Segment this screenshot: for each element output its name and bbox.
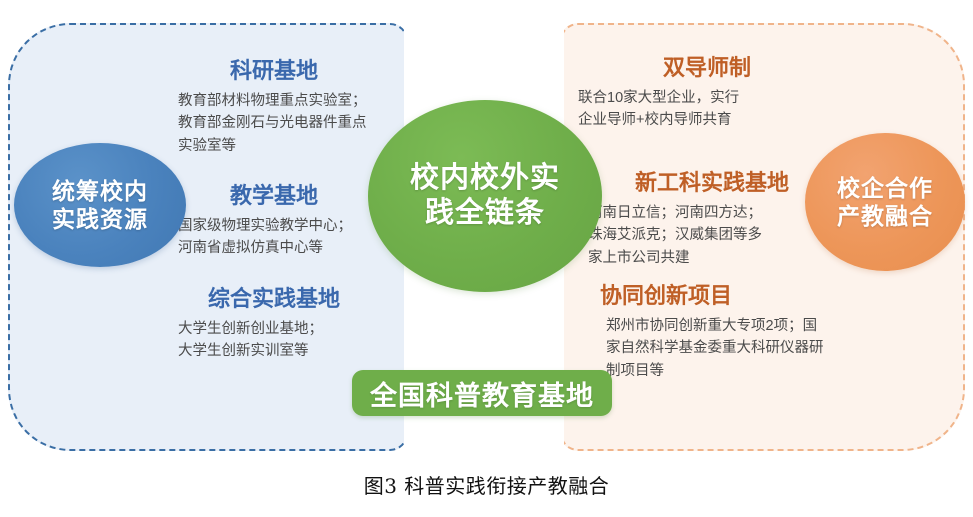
heading-collaborative-innovation-projects: 协同创新项目 bbox=[578, 283, 868, 309]
body-comprehensive-practice-base: 大学生创新创业基地； 大学生创新实训室等 bbox=[150, 318, 398, 363]
block-research-base: 科研基地 教育部材料物理重点实验室； 教育部金刚石与光电器件重点 实验室等 bbox=[150, 58, 398, 157]
body-research-base: 教育部材料物理重点实验室； 教育部金刚石与光电器件重点 实验室等 bbox=[150, 90, 398, 157]
body-dual-mentor-system: 联合10家大型企业，实行 企业导师+校内导师共育 bbox=[578, 87, 836, 132]
hub-full-chain-label: 校内校外实 践全链条 bbox=[410, 161, 560, 232]
block-new-engineering-practice-base: 新工科实践基地 河南日立信；河南四方达； 珠海艾派克；汉威集团等多 家上市公司共… bbox=[578, 170, 846, 269]
hub-internal-resources: 统筹校内 实践资源 bbox=[14, 143, 186, 267]
heading-comprehensive-practice-base: 综合实践基地 bbox=[150, 286, 398, 312]
heading-research-base: 科研基地 bbox=[150, 58, 398, 84]
heading-teaching-base: 教学基地 bbox=[150, 183, 398, 209]
figure-canvas: 科研基地 教育部材料物理重点实验室； 教育部金刚石与光电器件重点 实验室等 教学… bbox=[0, 0, 973, 517]
heading-dual-mentor-system: 双导师制 bbox=[578, 55, 836, 81]
block-teaching-base: 教学基地 国家级物理实验教学中心； 河南省虚拟仿真中心等 bbox=[150, 183, 398, 260]
block-comprehensive-practice-base: 综合实践基地 大学生创新创业基地； 大学生创新实训室等 bbox=[150, 286, 398, 363]
banner-label: 全国科普教育基地 bbox=[370, 374, 594, 413]
body-collaborative-innovation-projects: 郑州市协同创新重大专项2项；国 家自然科学基金委重大科研仪器研 制项目等 bbox=[578, 315, 868, 382]
body-teaching-base: 国家级物理实验教学中心； 河南省虚拟仿真中心等 bbox=[150, 215, 398, 260]
hub-industry-education-integration: 校企合作 产教融合 bbox=[805, 133, 965, 271]
block-dual-mentor-system: 双导师制 联合10家大型企业，实行 企业导师+校内导师共育 bbox=[578, 55, 836, 132]
hub-industry-education-integration-label: 校企合作 产教融合 bbox=[837, 174, 933, 230]
block-collaborative-innovation-projects: 协同创新项目 郑州市协同创新重大专项2项；国 家自然科学基金委重大科研仪器研 制… bbox=[578, 283, 868, 382]
figure-caption: 图3 科普实践衔接产教融合 bbox=[0, 470, 973, 499]
hub-full-chain: 校内校外实 践全链条 bbox=[368, 100, 602, 292]
banner-national-science-popularization-base: 全国科普教育基地 bbox=[352, 370, 612, 416]
hub-internal-resources-label: 统筹校内 实践资源 bbox=[52, 177, 148, 233]
